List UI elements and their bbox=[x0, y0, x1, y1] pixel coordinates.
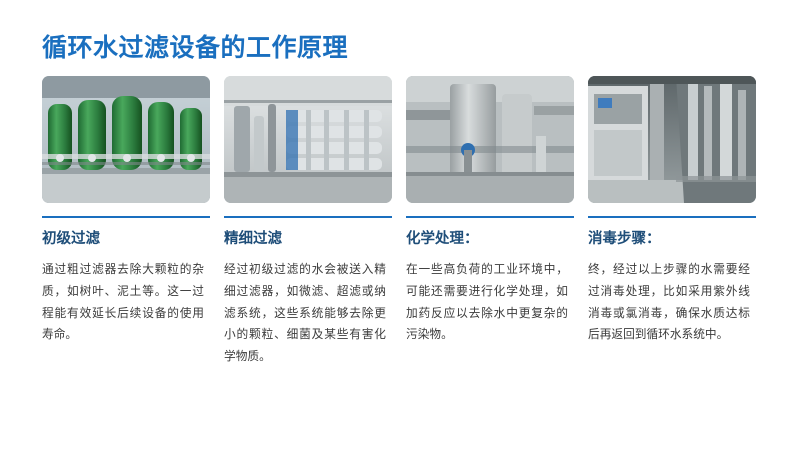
card-item[interactable]: 精细过滤 经过初级过滤的水会被送入精细过滤器，如微滤、超滤或纳滤系统，这些系统能… bbox=[224, 76, 392, 368]
page-root: 循环水过滤设备的工作原理 bbox=[0, 0, 800, 450]
card-item[interactable]: 消毒步骤： 终，经过以上步骤的水需要经过消毒处理，比如采用紫外线消毒或氯消毒，确… bbox=[588, 76, 756, 368]
photo-chemical-dosing-tank-graphic bbox=[406, 76, 574, 203]
card-body: 通过粗过滤器去除大颗粒的杂质，如树叶、泥土等。这一过程能有效延长后续设备的使用寿… bbox=[42, 259, 204, 346]
card-title: 消毒步骤： bbox=[588, 231, 756, 248]
card-title: 化学处理： bbox=[406, 231, 574, 248]
card-item[interactable]: 初级过滤 通过粗过滤器去除大颗粒的杂质，如树叶、泥土等。这一过程能有效延长后续设… bbox=[42, 76, 210, 368]
card-body: 终，经过以上步骤的水需要经过消毒处理，比如采用紫外线消毒或氯消毒，确保水质达标后… bbox=[588, 259, 750, 346]
photo-ro-membrane-skid bbox=[224, 76, 392, 203]
photo-ro-membrane-skid-graphic bbox=[224, 76, 392, 203]
card-title: 精细过滤 bbox=[224, 231, 392, 248]
card-divider bbox=[588, 216, 756, 218]
photo-disinfection-equipment-room-graphic bbox=[588, 76, 756, 203]
card-divider bbox=[406, 216, 574, 218]
card-title: 初级过滤 bbox=[42, 231, 210, 248]
card-item[interactable]: 化学处理： 在一些高负荷的工业环境中，可能还需要进行化学处理，如加药反应以去除水… bbox=[406, 76, 574, 368]
card-list: 初级过滤 通过粗过滤器去除大颗粒的杂质，如树叶、泥土等。这一过程能有效延长后续设… bbox=[42, 76, 758, 368]
page-title: 循环水过滤设备的工作原理 bbox=[42, 28, 348, 64]
card-divider bbox=[42, 216, 210, 218]
card-body: 在一些高负荷的工业环境中，可能还需要进行化学处理，如加药反应以去除水中更复杂的污… bbox=[406, 259, 568, 346]
photo-green-filter-tanks-graphic bbox=[42, 76, 210, 203]
photo-disinfection-equipment-room bbox=[588, 76, 756, 203]
photo-chemical-dosing-tank bbox=[406, 76, 574, 203]
card-body: 经过初级过滤的水会被送入精细过滤器，如微滤、超滤或纳滤系统，这些系统能够去除更小… bbox=[224, 259, 386, 367]
card-divider bbox=[224, 216, 392, 218]
photo-green-filter-tanks bbox=[42, 76, 210, 203]
